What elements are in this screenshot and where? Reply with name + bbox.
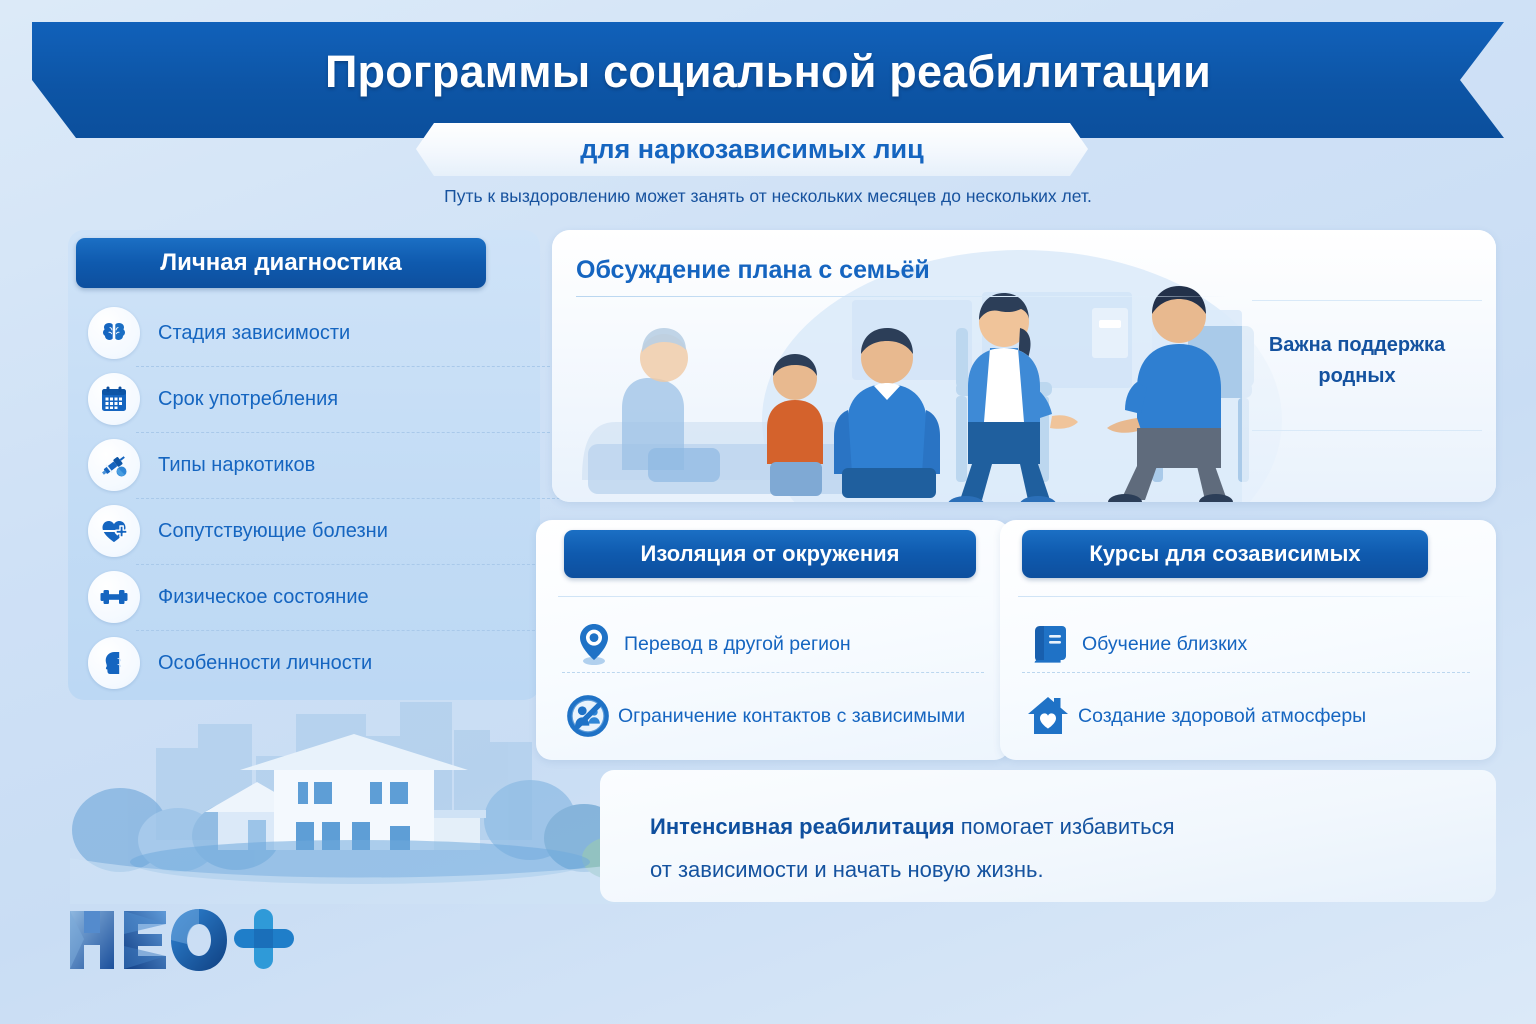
house-heart-icon — [1026, 694, 1070, 738]
neo-plus-logo — [66, 905, 316, 975]
isolation-card-heading: Изоляция от окружения — [564, 530, 976, 578]
infographic-root: Программы социальной реабилитации для на… — [0, 0, 1536, 1024]
page-title: Программы социальной реабилитации — [0, 22, 1536, 122]
dumbbell-icon — [88, 571, 140, 623]
list-item-label: Сопутствующие болезни — [158, 520, 388, 543]
conclusion-rest: помогает избавиться — [955, 814, 1175, 839]
diagnostics-list: Стадия зависимости — [88, 300, 528, 696]
calendar-icon — [88, 373, 140, 425]
card-separator — [562, 672, 984, 673]
card-rule — [558, 596, 988, 597]
title-underline — [576, 296, 1228, 297]
family-support-note: Важна поддержка родных — [1242, 330, 1472, 392]
list-item: Создание здоровой атмосферы — [1026, 688, 1366, 744]
book-icon — [1030, 622, 1074, 666]
family-discussion-card: Обсуждение плана с семьёй Важна поддержк… — [552, 230, 1496, 502]
card-separator — [1022, 672, 1470, 673]
list-item: Типы наркотиков — [88, 432, 528, 498]
family-card-title: Обсуждение плана с семьёй — [576, 256, 930, 285]
conclusion-strong: Интенсивная реабилитация — [650, 814, 955, 839]
list-item: Физическое состояние — [88, 564, 528, 630]
list-item: Перевод в другой регион — [572, 616, 851, 672]
brain-icon — [88, 307, 140, 359]
header-ribbon: Программы социальной реабилитации для на… — [0, 22, 1536, 140]
list-item: Сопутствующие болезни — [88, 498, 528, 564]
rehab-house-city-illustration — [60, 690, 680, 910]
diagnostics-heading: Личная диагностика — [76, 238, 486, 288]
head-profile-icon — [88, 637, 140, 689]
list-item-label: Особенности личности — [158, 652, 372, 675]
list-item: Стадия зависимости — [88, 300, 528, 366]
codependent-courses-card: Курсы для созависимых Обучение близких — [1000, 520, 1496, 760]
courses-card-heading: Курсы для созависимых — [1022, 530, 1428, 578]
list-item: Обучение близких — [1030, 616, 1247, 672]
list-item-label: Перевод в другой регион — [624, 633, 851, 656]
list-item-label: Срок употребления — [158, 388, 338, 411]
list-item-label: Обучение близких — [1082, 633, 1247, 656]
list-item-label: Физическое состояние — [158, 586, 369, 609]
lede-text: Путь к выздоровлению может занять от нес… — [0, 186, 1536, 207]
list-item: Срок употребления — [88, 366, 528, 432]
page-subtitle: для наркозависимых лиц — [580, 134, 923, 165]
card-rule — [1018, 596, 1474, 597]
list-item-label: Создание здоровой атмосферы — [1078, 705, 1366, 728]
heart-plus-icon — [88, 505, 140, 557]
list-item-label: Стадия зависимости — [158, 322, 350, 345]
conclusion-line-2: от зависимости и начать новую жизнь. — [650, 857, 1044, 882]
subtitle-banner: для наркозависимых лиц — [416, 123, 1088, 176]
list-item: Особенности личности — [88, 630, 528, 696]
map-pin-icon — [572, 622, 616, 666]
conclusion-text: Интенсивная реабилитация помогает избави… — [650, 806, 1410, 892]
syringe-pill-icon — [88, 439, 140, 491]
list-item-label: Типы наркотиков — [158, 454, 315, 477]
